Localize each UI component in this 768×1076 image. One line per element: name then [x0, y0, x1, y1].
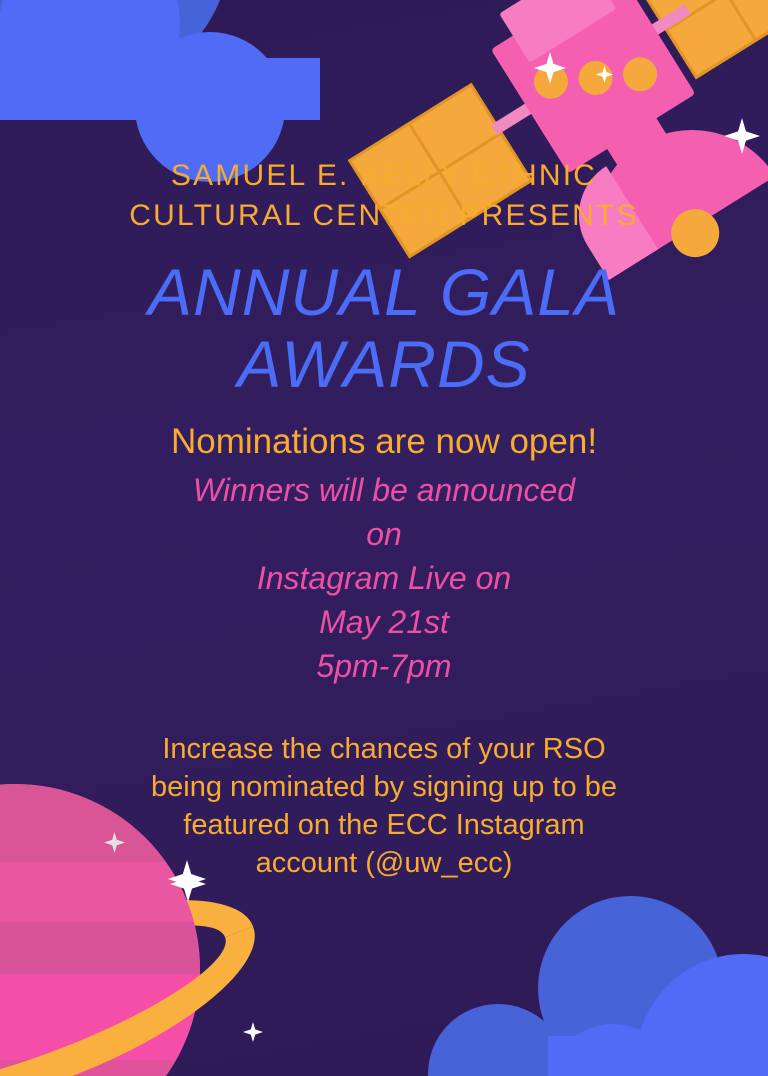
body-line-4: account (@uw_ecc)	[0, 844, 768, 882]
announcement-line-1: Winners will be announced	[0, 468, 768, 512]
presenter-line-2: CULTURAL CENTER PRESENTS	[0, 196, 768, 236]
nominations-headline: Nominations are now open!	[0, 420, 768, 464]
body-line-2: being nominated by signing up to be	[0, 768, 768, 806]
body-line-3: featured on the ECC Instagram	[0, 806, 768, 844]
poster-title: ANNUAL GALA AWARDS	[0, 256, 768, 400]
title-line-1: ANNUAL GALA	[0, 256, 768, 328]
presenter-line-1: SAMUEL E. KELLY ETHNIC	[0, 156, 768, 196]
presenter-heading: SAMUEL E. KELLY ETHNIC CULTURAL CENTER P…	[0, 156, 768, 236]
announcement-line-5: 5pm-7pm	[0, 644, 768, 688]
announcement-line-3: Instagram Live on	[0, 556, 768, 600]
event-poster: SAMUEL E. KELLY ETHNIC CULTURAL CENTER P…	[0, 0, 768, 1076]
announcement-line-2: on	[0, 512, 768, 556]
body-line-1: Increase the chances of your RSO	[0, 730, 768, 768]
poster-text-content: SAMUEL E. KELLY ETHNIC CULTURAL CENTER P…	[0, 0, 768, 1076]
title-line-2: AWARDS	[0, 328, 768, 400]
body-copy: Increase the chances of your RSO being n…	[0, 730, 768, 882]
announcement-line-4: May 21st	[0, 600, 768, 644]
announcement-block: Winners will be announced on Instagram L…	[0, 468, 768, 688]
